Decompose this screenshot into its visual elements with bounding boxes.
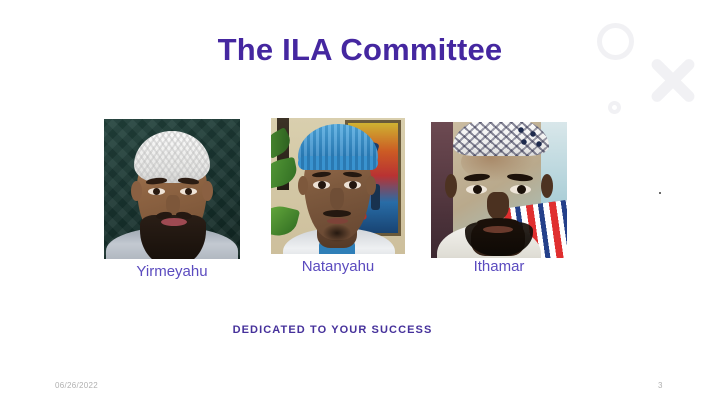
footer-date: 06/26/2022 xyxy=(55,381,98,390)
circle-outline-small-icon xyxy=(608,101,621,114)
footer-page-number: 3 xyxy=(658,381,662,390)
member-name-natanyahu: Natanyahu xyxy=(258,258,418,276)
page-title: The ILA Committee xyxy=(0,32,720,68)
member-name-yirmeyahu: Yirmeyahu xyxy=(94,263,250,281)
slide-tagline: DEDICATED TO YOUR SUCCESS xyxy=(0,324,665,336)
speck-dot-icon xyxy=(659,192,661,194)
member-name-ithamar: Ithamar xyxy=(419,258,579,276)
slide-canvas: The ILA Committee xyxy=(0,0,720,405)
member-photo-ithamar xyxy=(431,122,567,258)
member-photo-yirmeyahu xyxy=(104,119,240,259)
member-photo-natanyahu xyxy=(271,118,405,254)
